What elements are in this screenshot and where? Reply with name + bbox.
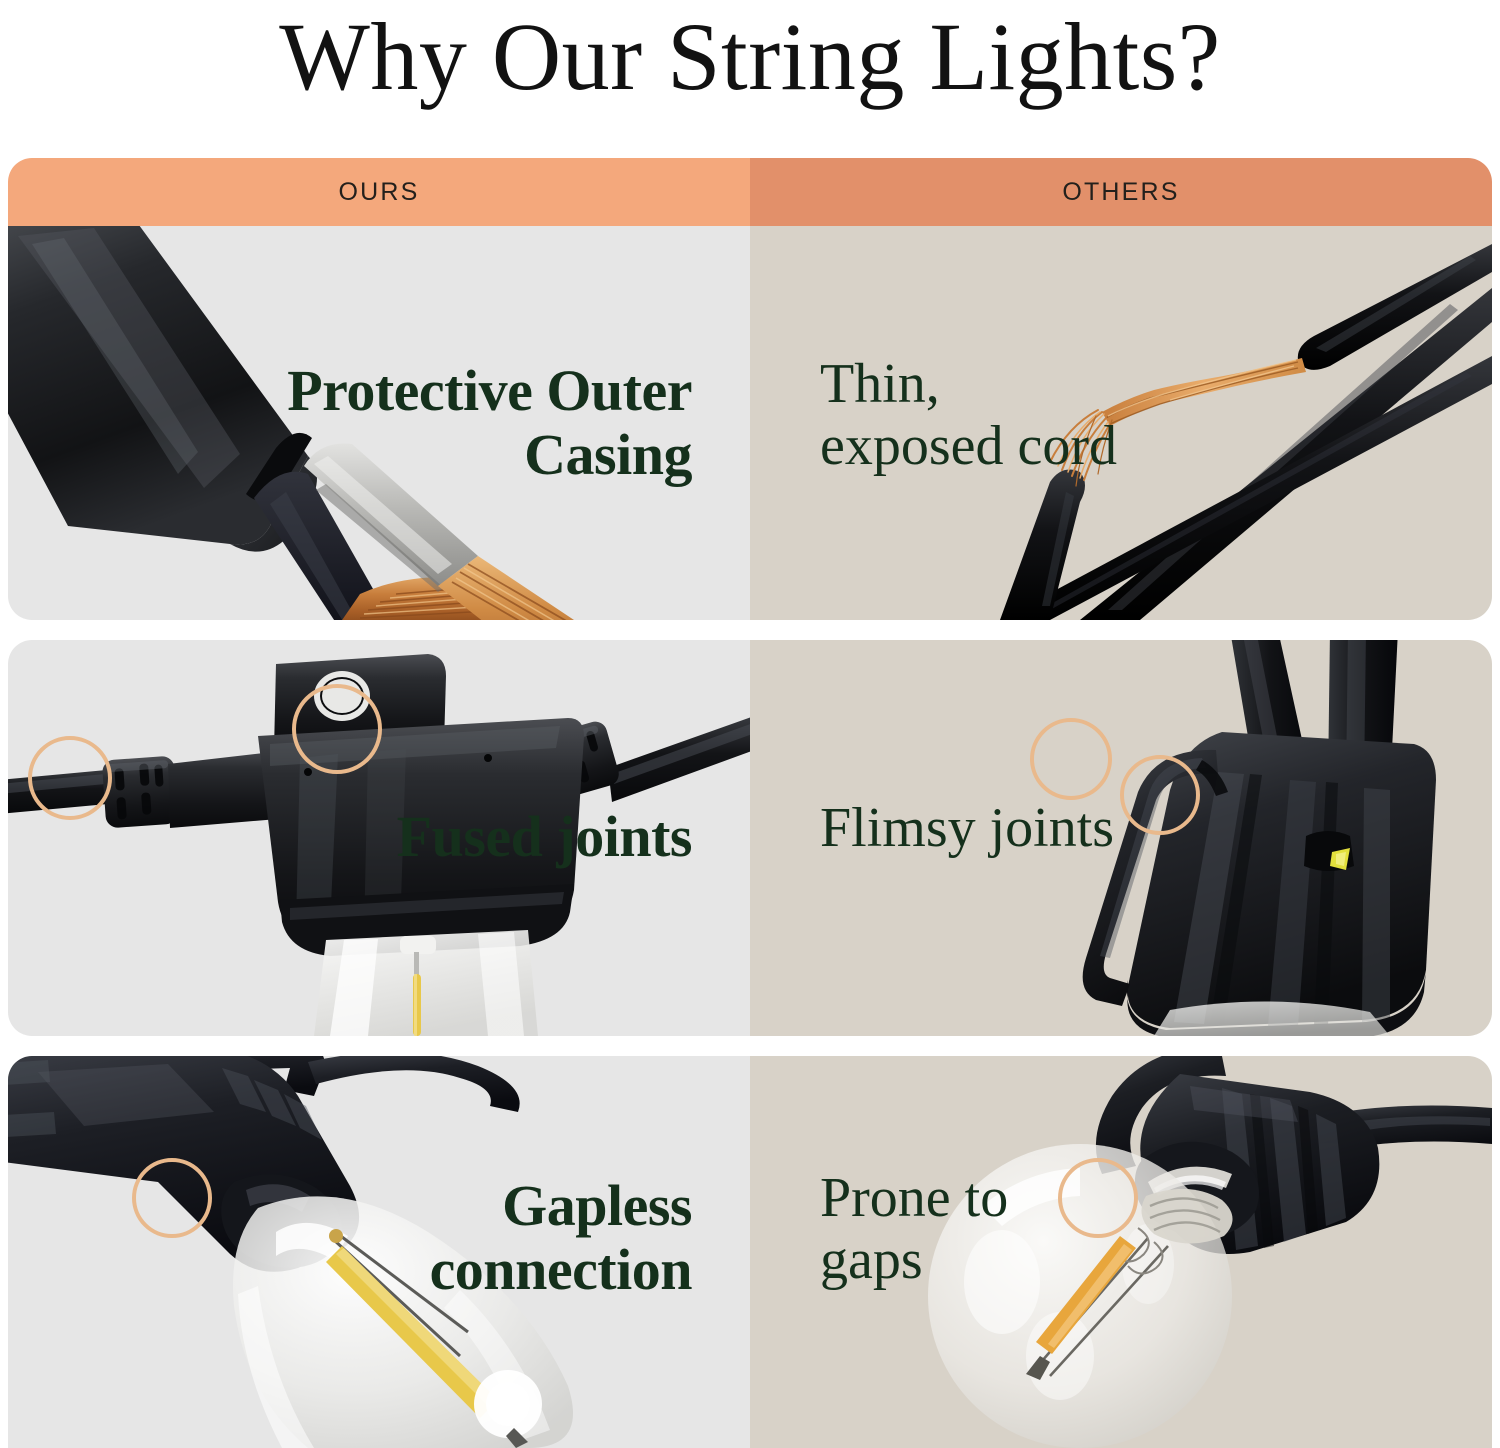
caption-others-outer-casing: Thin, exposed cord [820, 354, 1117, 477]
caption-others-joints: Flimsy joints [820, 798, 1114, 860]
cell-ours-joints: Fused joints [8, 640, 750, 1036]
page-title: Why Our String Lights? [0, 2, 1500, 112]
highlight-ring-bulb-socket-seam [132, 1158, 212, 1238]
highlight-ring-exposed-yellow-wire [1120, 755, 1200, 835]
comparison-header-bar: OURS OTHERS [8, 158, 1492, 226]
caption-ours-joints: Fused joints [397, 805, 692, 869]
header-cell-ours: OURS [8, 158, 750, 226]
comparison-row-joints: Fused joints [8, 640, 1492, 1036]
comparison-row-connection: Gapless connection [8, 1056, 1492, 1448]
header-label-ours: OURS [338, 178, 419, 207]
highlight-ring-hook-clip-gap [1030, 718, 1112, 800]
header-label-others: OTHERS [1062, 178, 1179, 207]
highlight-ring-right-strain-relief-joint [292, 684, 382, 774]
caption-ours-connection: Gapless connection [430, 1174, 692, 1302]
cell-others-outer-casing: Thin, exposed cord [750, 226, 1492, 620]
cell-ours-connection: Gapless connection [8, 1056, 750, 1448]
cell-others-connection: Prone to gaps [750, 1056, 1492, 1448]
highlight-ring-left-strain-relief-joint [28, 736, 112, 820]
caption-others-connection: Prone to gaps [820, 1168, 1008, 1291]
highlight-ring-bulb-socket-gap [1058, 1158, 1138, 1238]
caption-ours-outer-casing: Protective Outer Casing [287, 359, 692, 487]
comparison-infographic: Why Our String Lights? OURS OTHERS [0, 0, 1500, 1448]
cell-ours-outer-casing: Protective Outer Casing [8, 226, 750, 620]
comparison-row-outer-casing: Protective Outer Casing [8, 226, 1492, 620]
header-cell-others: OTHERS [750, 158, 1492, 226]
cell-others-joints: Flimsy joints [750, 640, 1492, 1036]
